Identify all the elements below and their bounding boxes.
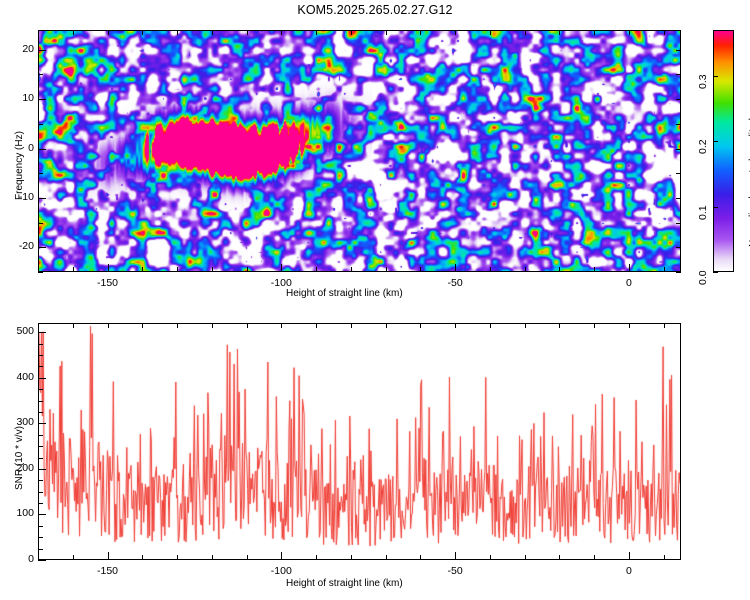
y-tick-label: 10 [0, 92, 34, 104]
x-minor-tick-top [142, 30, 143, 35]
x-minor-tick-top [38, 323, 39, 328]
x-minor-tick-top [386, 30, 387, 35]
x-major-tick [455, 552, 456, 560]
x-minor-tick [490, 267, 491, 272]
y-major-tick [38, 332, 46, 333]
x-minor-tick-top [386, 323, 387, 328]
x-minor-tick-top [664, 323, 665, 328]
x-minor-tick-top [212, 323, 213, 328]
page-title: KOM5.2025.265.02.27.G12 [0, 3, 750, 17]
x-major-tick [108, 552, 109, 560]
y-tick-label: 500 [0, 325, 34, 337]
x-minor-tick [420, 555, 421, 560]
y-minor-tick [38, 458, 43, 459]
x-minor-tick [177, 267, 178, 272]
x-tick-label: 0 [615, 565, 643, 577]
figure-root: KOM5.2025.265.02.27.G12 -150-100-5002010… [0, 0, 750, 600]
y-minor-tick [38, 124, 43, 125]
x-minor-tick-top [525, 30, 526, 35]
y-major-tick [38, 50, 46, 51]
x-minor-tick-top [142, 323, 143, 328]
y-minor-tick [38, 480, 43, 481]
y-minor-tick [38, 74, 43, 75]
colorbar-gradient [714, 31, 733, 271]
y-minor-tick [38, 366, 43, 367]
x-minor-tick-top [351, 30, 352, 35]
y-minor-tick [38, 355, 43, 356]
x-major-tick [629, 264, 630, 272]
x-minor-tick-top [559, 323, 560, 328]
colorbar-tick-label: 0.3 [697, 63, 709, 89]
x-minor-tick [212, 267, 213, 272]
x-minor-tick-top [177, 323, 178, 328]
spectrogram-y-axis-label: Frequency (Hz) [14, 131, 25, 200]
snr-panel [38, 323, 681, 560]
spectrogram-x-axis-label: Height of straight line (km) [286, 288, 403, 299]
x-minor-tick-top [212, 30, 213, 35]
x-minor-tick [594, 267, 595, 272]
x-minor-tick-top [490, 30, 491, 35]
y-minor-tick-right [676, 198, 681, 199]
colorbar-tick-label: 0.2 [697, 128, 709, 154]
x-minor-tick-top [525, 323, 526, 328]
y-major-tick [38, 99, 46, 100]
x-tick-label: -50 [441, 565, 469, 577]
colorbar-tick [713, 207, 718, 208]
spectrogram-canvas [39, 31, 680, 271]
x-tick-label: -50 [441, 277, 469, 289]
x-minor-tick [490, 555, 491, 560]
x-minor-tick-top [490, 323, 491, 328]
y-minor-tick [38, 435, 43, 436]
x-minor-tick [316, 555, 317, 560]
x-minor-tick [351, 555, 352, 560]
x-minor-tick-top [559, 30, 560, 35]
y-minor-tick [38, 492, 43, 493]
x-minor-tick-top [247, 323, 248, 328]
x-minor-tick-top [247, 30, 248, 35]
x-minor-tick-top [351, 323, 352, 328]
x-tick-label: -150 [94, 565, 122, 577]
y-minor-tick [38, 272, 43, 273]
y-minor-tick [38, 389, 43, 390]
y-major-tick [38, 378, 46, 379]
y-major-tick [38, 247, 46, 248]
x-minor-tick [142, 267, 143, 272]
x-minor-tick [73, 555, 74, 560]
x-minor-tick [664, 267, 665, 272]
y-major-tick [38, 469, 46, 470]
x-minor-tick [386, 555, 387, 560]
x-tick-label: -150 [94, 277, 122, 289]
x-minor-tick-top [108, 323, 109, 328]
x-minor-tick-top [281, 323, 282, 328]
spectrogram-panel [38, 30, 681, 272]
x-minor-tick [247, 267, 248, 272]
x-minor-tick-top [73, 30, 74, 35]
x-minor-tick-top [594, 323, 595, 328]
x-minor-tick [559, 267, 560, 272]
x-minor-tick-top [664, 30, 665, 35]
x-major-tick [455, 264, 456, 272]
x-minor-tick [177, 555, 178, 560]
x-minor-tick-top [316, 323, 317, 328]
y-minor-tick [38, 173, 43, 174]
x-major-tick [108, 264, 109, 272]
y-tick-label: 100 [0, 507, 34, 519]
y-tick-label: -20 [0, 240, 34, 252]
y-major-tick [38, 560, 46, 561]
x-minor-tick [142, 555, 143, 560]
x-minor-tick [559, 555, 560, 560]
x-minor-tick-top [455, 30, 456, 35]
x-minor-tick-top [177, 30, 178, 35]
colorbar-tick [713, 141, 718, 142]
y-major-tick [38, 149, 46, 150]
x-minor-tick [212, 555, 213, 560]
y-minor-tick [38, 446, 43, 447]
y-minor-tick [38, 549, 43, 550]
x-minor-tick-top [281, 30, 282, 35]
x-minor-tick-top [73, 323, 74, 328]
x-minor-tick [594, 555, 595, 560]
y-major-tick [38, 198, 46, 199]
x-minor-tick-top [316, 30, 317, 35]
x-minor-tick [386, 267, 387, 272]
colorbar-tick [713, 272, 718, 273]
colorbar-tick-label: 0.1 [697, 194, 709, 220]
x-minor-tick-top [455, 323, 456, 328]
x-minor-tick [525, 267, 526, 272]
x-major-tick [629, 552, 630, 560]
x-minor-tick [351, 267, 352, 272]
y-minor-tick-right [676, 124, 681, 125]
x-minor-tick [525, 555, 526, 560]
x-minor-tick [247, 555, 248, 560]
y-minor-tick [38, 401, 43, 402]
x-minor-tick [316, 267, 317, 272]
y-minor-tick [38, 537, 43, 538]
x-tick-label: 0 [615, 277, 643, 289]
colorbar-tick [713, 76, 718, 77]
y-minor-tick-right [676, 50, 681, 51]
y-minor-tick-right [676, 74, 681, 75]
x-minor-tick-top [420, 323, 421, 328]
y-tick-label: 0 [0, 553, 34, 565]
x-tick-label: -100 [267, 565, 295, 577]
x-minor-tick-top [420, 30, 421, 35]
y-minor-tick-right [676, 272, 681, 273]
x-minor-tick [664, 555, 665, 560]
y-minor-tick-right [676, 223, 681, 224]
x-minor-tick-top [108, 30, 109, 35]
y-tick-label: 400 [0, 371, 34, 383]
y-minor-tick-right [676, 149, 681, 150]
y-minor-tick-right [676, 247, 681, 248]
y-minor-tick [38, 503, 43, 504]
x-major-tick [281, 264, 282, 272]
y-minor-tick-right [676, 99, 681, 100]
x-minor-tick-top [38, 30, 39, 35]
y-minor-tick [38, 412, 43, 413]
y-minor-tick-right [676, 173, 681, 174]
x-minor-tick-top [629, 323, 630, 328]
x-minor-tick-top [594, 30, 595, 35]
colorbar [713, 30, 734, 272]
snr-y-axis-label: SNR (10 * v/v) [14, 426, 25, 490]
snr-x-axis-label: Height of straight line (km) [286, 578, 403, 589]
x-minor-tick [73, 267, 74, 272]
snr-canvas [39, 324, 680, 559]
y-major-tick [38, 514, 46, 515]
y-tick-label: 20 [0, 43, 34, 55]
x-major-tick [281, 552, 282, 560]
y-minor-tick [38, 344, 43, 345]
x-minor-tick [420, 267, 421, 272]
y-minor-tick [38, 223, 43, 224]
y-major-tick [38, 423, 46, 424]
colorbar-tick-label: 0.0 [697, 259, 709, 285]
x-minor-tick-top [629, 30, 630, 35]
y-minor-tick [38, 526, 43, 527]
